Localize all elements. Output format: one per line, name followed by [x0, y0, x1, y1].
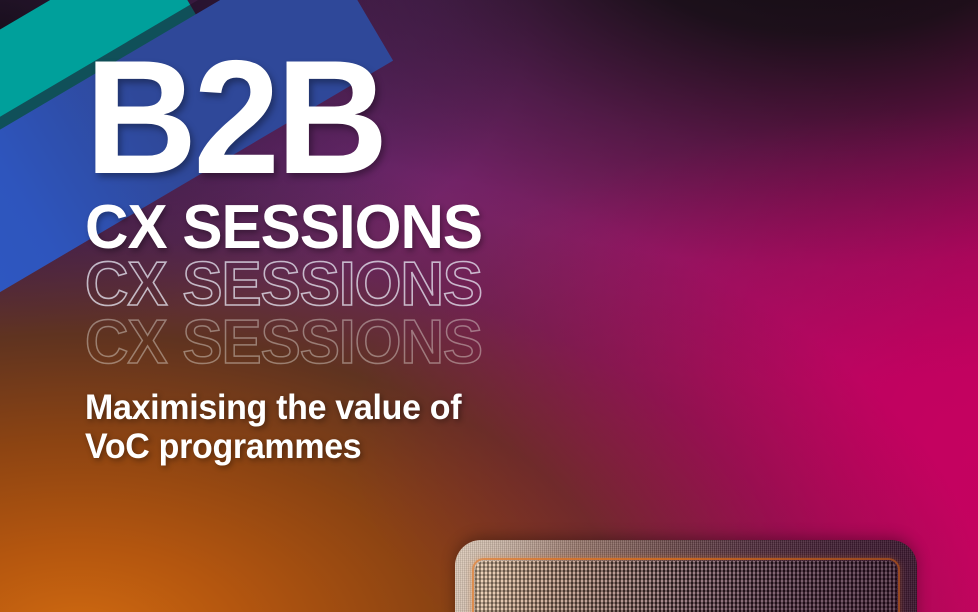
speaker-amplifier-image [455, 540, 917, 612]
brand-title: B2B [85, 52, 623, 185]
series-title: CX SESSIONS [85, 199, 628, 257]
subtitle-line-1: Maximising the value of [85, 388, 628, 427]
speaker-gloss-overlay [455, 540, 917, 612]
title-block: B2B CX SESSIONS CX SESSIONS CX SESSIONS … [85, 52, 645, 466]
subtitle-line-2: VoC programmes [85, 427, 628, 466]
poster-canvas: B2B CX SESSIONS CX SESSIONS CX SESSIONS … [0, 0, 978, 612]
subtitle: Maximising the value of VoC programmes [85, 388, 628, 466]
series-title-stack: CX SESSIONS CX SESSIONS CX SESSIONS [85, 199, 645, 372]
series-title-echo-2: CX SESSIONS [85, 314, 628, 372]
series-title-echo-1: CX SESSIONS [85, 256, 628, 314]
